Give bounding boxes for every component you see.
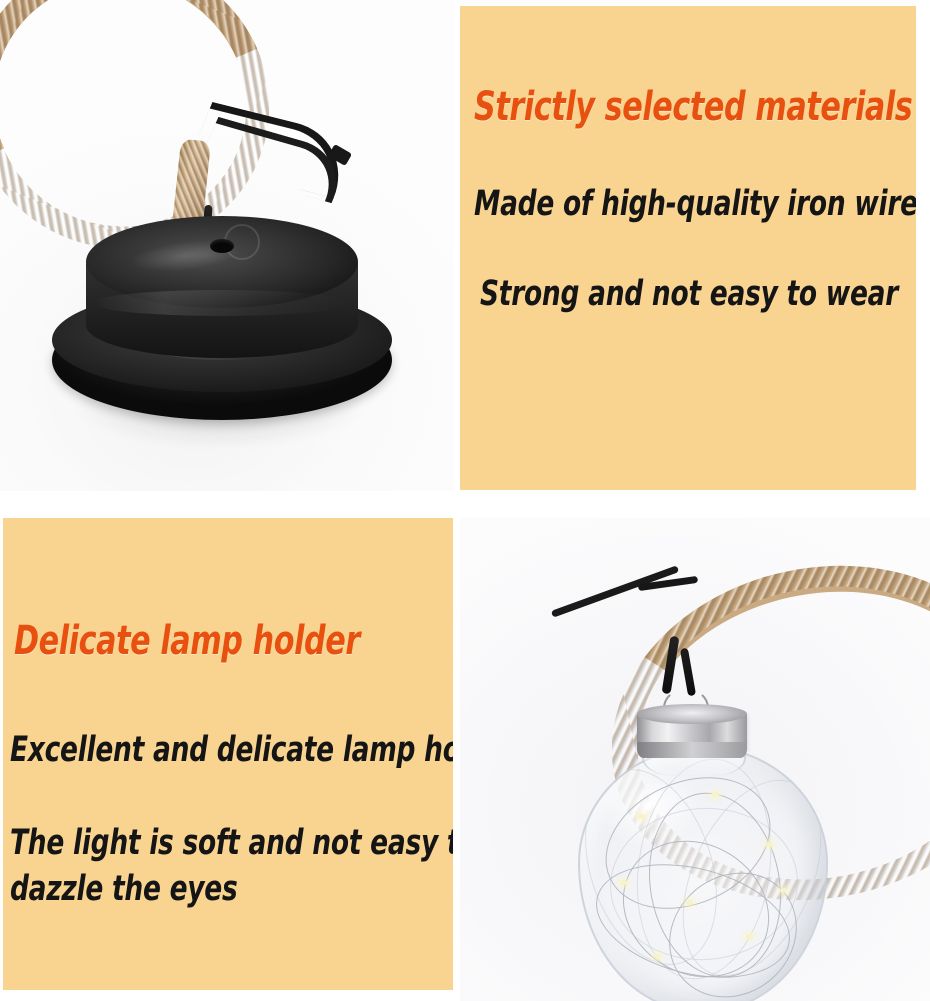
led-bulb bbox=[654, 954, 661, 959]
materials-title: Strictly selected materials bbox=[474, 84, 912, 130]
silver-cap-band bbox=[637, 742, 747, 758]
panel-edge-bottom bbox=[0, 990, 455, 1001]
led-bulb bbox=[746, 934, 753, 939]
lamp-holder-line-1: Excellent and delicate lamp holder bbox=[10, 730, 453, 770]
led-bulb bbox=[766, 842, 773, 847]
led-bulb bbox=[638, 814, 645, 819]
silver-cap-top bbox=[637, 704, 747, 724]
lamp-base-wire-hole bbox=[210, 239, 234, 253]
feature-panel-lamp-holder: Delicate lamp holder Excellent and delic… bbox=[3, 518, 453, 990]
materials-line-1: Made of high-quality iron wire bbox=[474, 184, 916, 224]
led-bulb bbox=[712, 792, 719, 797]
panel-gutter-horizontal bbox=[0, 491, 930, 518]
led-bulb bbox=[780, 888, 787, 893]
led-bulb bbox=[686, 900, 693, 905]
panel-edge-right bbox=[916, 0, 930, 491]
lamp-base-rim-shine bbox=[92, 290, 350, 316]
lamp-holder-line-2: The light is soft and not easy to dazzle… bbox=[10, 820, 453, 912]
led-bulb bbox=[620, 880, 627, 885]
photo-lamp-base bbox=[0, 0, 454, 491]
collage-stage: Strictly selected materials Made of high… bbox=[0, 0, 930, 1001]
glass-globe-shade bbox=[578, 746, 828, 1001]
materials-line-2: Strong and not easy to wear bbox=[480, 274, 898, 314]
lamp-holder-title: Delicate lamp holder bbox=[14, 618, 360, 664]
photo-glass-globe bbox=[460, 518, 930, 1001]
feature-panel-materials: Strictly selected materials Made of high… bbox=[460, 6, 916, 490]
